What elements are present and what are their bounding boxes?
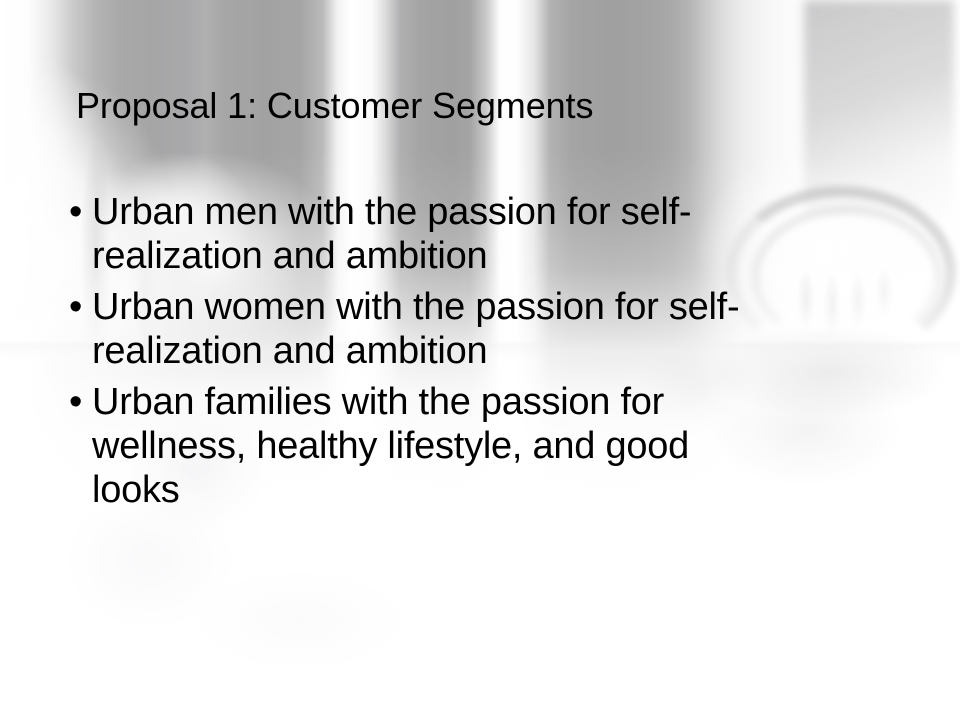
bullet-item-3-text: Urban families with the passion for well… (92, 380, 756, 512)
bullet-item-1: • Urban men with the passion for self-re… (68, 190, 804, 278)
slide-title: Proposal 1: Customer Segments (76, 84, 896, 128)
bullet-marker-icon: • (69, 190, 82, 234)
bullet-list: • Urban men with the passion for self-re… (68, 190, 868, 519)
bullet-item-2-text: Urban women with the passion for self-re… (92, 285, 852, 373)
bullet-item-3: • Urban families with the passion for we… (68, 380, 756, 512)
presentation-slide: Proposal 1: Customer Segments • Urban me… (0, 0, 960, 720)
bullet-marker-icon: • (69, 380, 82, 424)
bullet-item-2: • Urban women with the passion for self-… (68, 285, 852, 373)
slide-content: Proposal 1: Customer Segments • Urban me… (0, 0, 960, 720)
bullet-marker-icon: • (69, 285, 82, 329)
bullet-item-1-text: Urban men with the passion for self-real… (92, 190, 804, 278)
